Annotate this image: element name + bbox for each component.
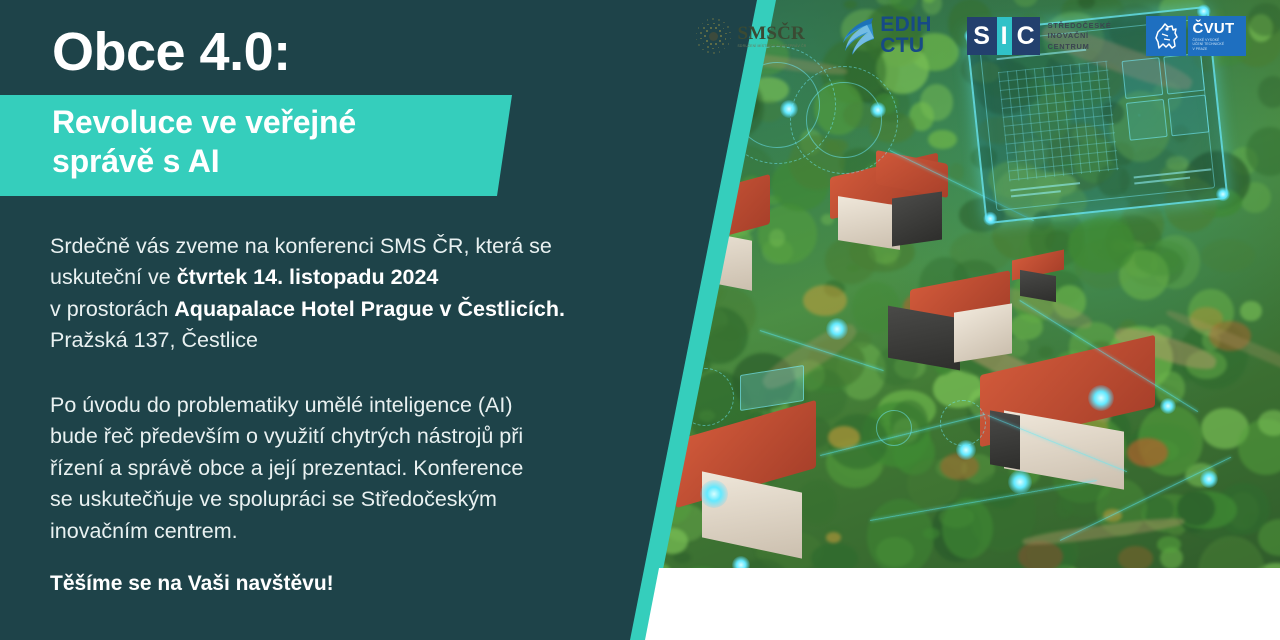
edih-logo-line-2: CTU [880,36,931,57]
smscr-logo: SMSČR SDRUŽENÍ MÍSTNÍCH SAMOSPRÁV ČR [693,16,806,56]
holo-ring [940,400,986,446]
invitation-line-1: Srdečně vás zveme na konferenci SMS ČR, … [50,231,690,262]
smscr-logo-subtext: SDRUŽENÍ MÍSTNÍCH SAMOSPRÁV ČR [737,45,806,48]
edih-logo-line-1: EDIH [880,15,931,36]
partner-logo-row: SMSČR SDRUŽENÍ MÍSTNÍCH SAMOSPRÁV ČR EDI… [660,0,1280,72]
description-line-2: bude řeč především o využití chytrých ná… [50,421,690,452]
subtitle-line-2: správě s AI [52,142,522,181]
sic-letter-blocks: S I C [967,17,1040,55]
holo-ring [806,82,882,158]
event-venue: Aquapalace Hotel Prague v Čestlicích. [174,297,565,321]
invitation-line-2: uskuteční ve čtvrtek 14. listopadu 2024 [50,262,690,293]
holo-ring [876,410,912,446]
subtitle-line-1: Revoluce ve veřejné [52,103,522,142]
description-line-4: se uskutečňuje ve spolupráci se Středoče… [50,484,690,515]
event-date: čtvrtek 14. listopadu 2024 [177,265,439,289]
invitation-line-3: v prostorách Aquapalace Hotel Prague v Č… [50,294,690,325]
subtitle-text: Revoluce ve veřejné správě s AI [52,103,522,181]
invitation-paragraph: Srdečně vás zveme na konferenci SMS ČR, … [50,231,690,357]
sic-text-line-3: CENTRUM [1048,43,1112,50]
description-line-5: inovačním centrem. [50,516,690,547]
sic-text-line-1: STŘEDOČESKÉ [1048,22,1112,29]
cvut-lion-icon [1151,20,1181,52]
invitation-line-3-prefix: v prostorách [50,297,174,321]
sic-block-s: S [967,17,997,55]
sic-block-c: C [1012,17,1040,55]
closing-text: Těšíme se na Vaši navštěvu! [50,572,334,596]
smscr-dot-emblem-icon [693,16,733,56]
sic-logo: S I C STŘEDOČESKÉ INOVAČNÍ CENTRUM [967,17,1112,55]
holo-node [1200,470,1218,488]
cvut-sub-line-3: V PRAZE [1192,47,1246,51]
sic-block-i: I [997,17,1012,55]
invitation-line-2-prefix: uskuteční ve [50,265,177,289]
holo-node [1088,385,1114,411]
description-line-3: řízení a správě obce a její prezentaci. … [50,453,690,484]
sic-text-line-2: INOVAČNÍ [1048,32,1112,39]
edih-flame-icon [841,16,875,56]
page-title: Obce 4.0: [52,24,291,81]
cvut-lion-emblem-icon [1146,16,1186,56]
smscr-logo-text: SMSČR [737,24,806,43]
description-paragraph: Po úvodu do problematiky umělé inteligen… [50,390,690,547]
cvut-logo: ČVUT ČESKÉ VYSOKÉ UČENÍ TECHNICKÉ V PRAZ… [1146,16,1246,56]
sensor-shed [1012,255,1070,303]
edih-ctu-logo: EDIH CTU [841,15,931,56]
holo-node [826,318,848,340]
event-address: Pražská 137, Čestlice [50,325,690,356]
holo-node [700,480,728,508]
holo-node [1160,398,1176,414]
holo-node [1008,470,1032,494]
description-line-1: Po úvodu do problematiky umělé inteligen… [50,390,690,421]
poster-root: Obce 4.0: Revoluce ve veřejné správě s A… [0,0,1280,640]
cvut-logo-text: ČVUT [1192,21,1246,36]
